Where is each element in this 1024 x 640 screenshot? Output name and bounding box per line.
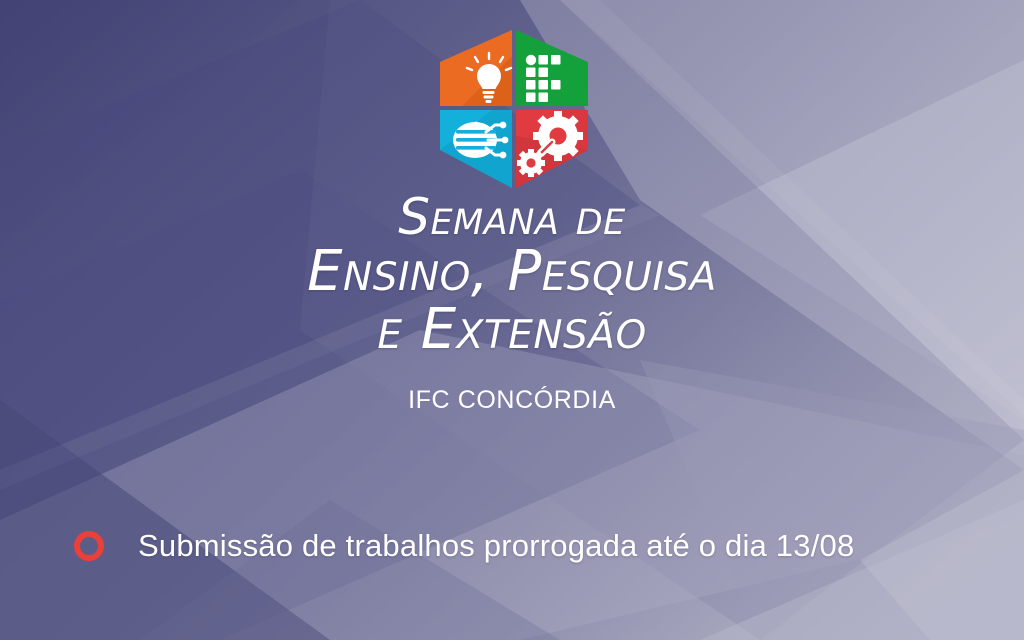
poster-slide: Semana de Ensino, Pesquisa e Extensão IF… [0,0,1024,640]
ring-bullet-icon [74,531,104,561]
logo-quadrant-research [440,110,512,188]
logo-quadrant-extension [516,110,588,188]
announcement-callout: Submissão de trabalhos prorrogada até o … [74,518,1018,574]
ifc-hexagon-logo [432,26,596,192]
announcement-text: Submissão de trabalhos prorrogada até o … [138,528,854,564]
campus-subtitle: IFC CONCÓRDIA [0,386,1024,415]
logo-quadrant-institute [516,30,588,106]
logo-quadrant-teaching [440,30,512,106]
